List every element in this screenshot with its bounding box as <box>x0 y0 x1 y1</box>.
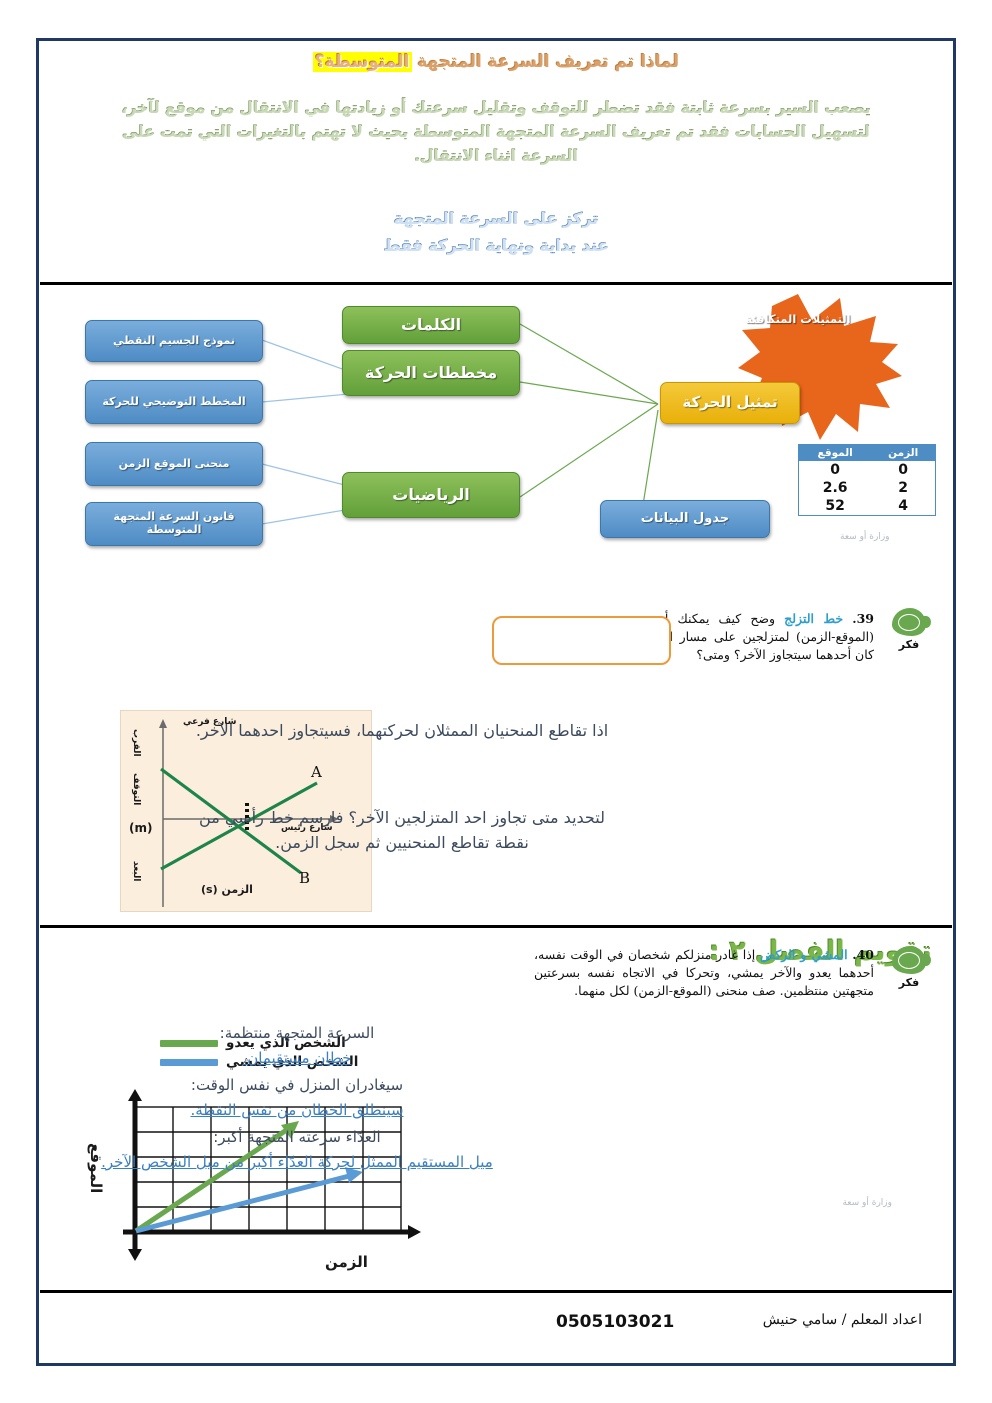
page-title-main: لماذا تم تعريف السرعة المتجهة <box>417 52 679 72</box>
question-39-answer-1: اذا تقاطع المنحنيان الممثلان لحركتهما، ف… <box>182 718 622 743</box>
skier-graph-x-label: الزمن (s) <box>201 883 253 896</box>
answer-reply-3: ميل المستقيم الممثل لحركة العدّاء أكبر م… <box>62 1151 532 1173</box>
skier-curve-a-label: A <box>311 763 322 781</box>
footer-author: اعداد المعلم / سامي حنيش <box>763 1312 922 1328</box>
think-icon-group: فكر <box>886 608 932 651</box>
table-watermark: وزارة أو سعة <box>840 532 890 542</box>
concept-node-label: الكلمات <box>401 316 461 334</box>
divider-middle <box>40 925 952 928</box>
evaluation-watermark: وزارة أو سعة <box>842 1198 892 1208</box>
concept-node-green-2: الرياضيات <box>342 472 520 518</box>
concept-node-label: مخططات الحركة <box>365 364 497 382</box>
worksheet-page: لماذا تم تعريف السرعة المتجهة المتوسطة؟ … <box>0 0 992 1403</box>
page-title-highlight: المتوسطة؟ <box>313 52 412 72</box>
concept-map: نموذج الجسيم النقطي المخطط التوضيحي للحر… <box>40 292 952 562</box>
skier-graph-y-bottom-label: البعد <box>131 861 141 881</box>
answer-prompt-2: سيغادران المنزل في نفس الوقت: <box>62 1074 532 1096</box>
walk-run-x-axis-label: الزمن <box>325 1253 368 1271</box>
answer-reply-1: خطان مستقيمان. <box>62 1047 532 1069</box>
intro-paragraph: يصعب السير بسرعة ثابتة فقد تضطر للتوقف و… <box>118 96 874 168</box>
question-40-text: 40. المشي و الركض إذا غادر منزلكم شخصان … <box>534 946 874 1000</box>
concept-node-blue-0: نموذج الجسيم النقطي <box>85 320 263 362</box>
concept-node-label: المخطط التوضيحي للحركة <box>102 396 245 409</box>
table-header-row: الزمن الموقع <box>799 445 936 462</box>
answer-prompt-3: العدّاء سرعته المتجهة أكبر: <box>62 1126 532 1148</box>
skier-graph-y-unit-label: (m) <box>129 821 152 835</box>
question-40-number: 40. <box>852 947 874 962</box>
divider-top <box>40 282 952 285</box>
table-row: 4 52 <box>799 497 936 516</box>
think-icon-group: فكر <box>886 946 932 989</box>
answer-reply-2: سينطلق الخطان من نفس النقطة. <box>62 1099 532 1121</box>
concept-node-label: قانون السرعة المتجهة المتوسطة <box>86 511 262 536</box>
skier-graph-y-mid-label: التوقف <box>131 773 141 805</box>
concept-node-gold: تمثيل الحركة <box>660 382 800 424</box>
concept-node-blue-2: منحنى الموقع الزمن <box>85 442 263 486</box>
concept-node-label: جدول البيانات <box>641 512 729 527</box>
focus-line-1: تركز على السرعة المتجهة <box>0 205 992 232</box>
answer-input-box-39[interactable] <box>492 616 671 665</box>
skier-curve-b-label: B <box>299 869 310 887</box>
starburst-callout: التمثيلات المتكافئة <box>698 292 898 372</box>
question-40-block: فكر 40. المشي و الركض إذا غادر منزلكم شخ… <box>40 940 952 1280</box>
table-cell-time: 0 <box>871 461 935 479</box>
motion-data-table: الزمن الموقع 0 0 2 2.6 4 52 <box>798 444 936 516</box>
focus-statement: تركز على السرعة المتجهة عند بداية ونهاية… <box>0 205 992 259</box>
starburst-label: التمثيلات المتكافئة <box>698 312 898 326</box>
question-39-block: فكر 39. خط التزلج وضح كيف يمكنك أن تستخد… <box>40 600 952 920</box>
concept-node-data-table: جدول البيانات <box>600 500 770 538</box>
page-title: لماذا تم تعريف السرعة المتجهة المتوسطة؟ <box>0 52 992 72</box>
table-cell-time: 4 <box>871 497 935 516</box>
table-cell-position: 0 <box>799 461 872 479</box>
concept-node-label: نموذج الجسيم النقطي <box>113 335 235 348</box>
table-cell-position: 2.6 <box>799 479 872 497</box>
concept-node-green-1: مخططات الحركة <box>342 350 520 396</box>
concept-node-green-0: الكلمات <box>342 306 520 344</box>
question-40-keyword: المشي و الركض <box>760 947 848 962</box>
table-cell-position: 52 <box>799 497 872 516</box>
footer-phone: 0505103021 <box>556 1312 674 1332</box>
brain-icon <box>892 946 926 974</box>
think-label: فكر <box>886 638 932 651</box>
concept-node-blue-1: المخطط التوضيحي للحركة <box>85 380 263 424</box>
table-header-time: الزمن <box>871 445 935 462</box>
answer-prompt-1: السرعة المتجهة منتظمة: <box>62 1022 532 1044</box>
table-header-position: الموقع <box>799 445 872 462</box>
focus-line-2: عند بداية ونهاية الحركة فقط <box>0 232 992 259</box>
skier-graph-y-top-label: القرب <box>131 729 141 757</box>
concept-node-label: الرياضيات <box>392 486 470 504</box>
concept-node-label: منحنى الموقع الزمن <box>119 458 230 471</box>
concept-node-label: تمثيل الحركة <box>682 394 777 411</box>
brain-icon <box>892 608 926 636</box>
table-row: 2 2.6 <box>799 479 936 497</box>
question-39-answer-2: لتحديد متى تجاوز احد المتزلجين الآخر؟ فا… <box>182 805 622 855</box>
table-cell-time: 2 <box>871 479 935 497</box>
question-39-number: 39. <box>852 611 874 626</box>
table-row: 0 0 <box>799 461 936 479</box>
divider-bottom <box>40 1290 952 1293</box>
think-label: فكر <box>886 976 932 989</box>
concept-node-blue-3: قانون السرعة المتجهة المتوسطة <box>85 502 263 546</box>
question-39-keyword: خط التزلج <box>784 611 843 626</box>
